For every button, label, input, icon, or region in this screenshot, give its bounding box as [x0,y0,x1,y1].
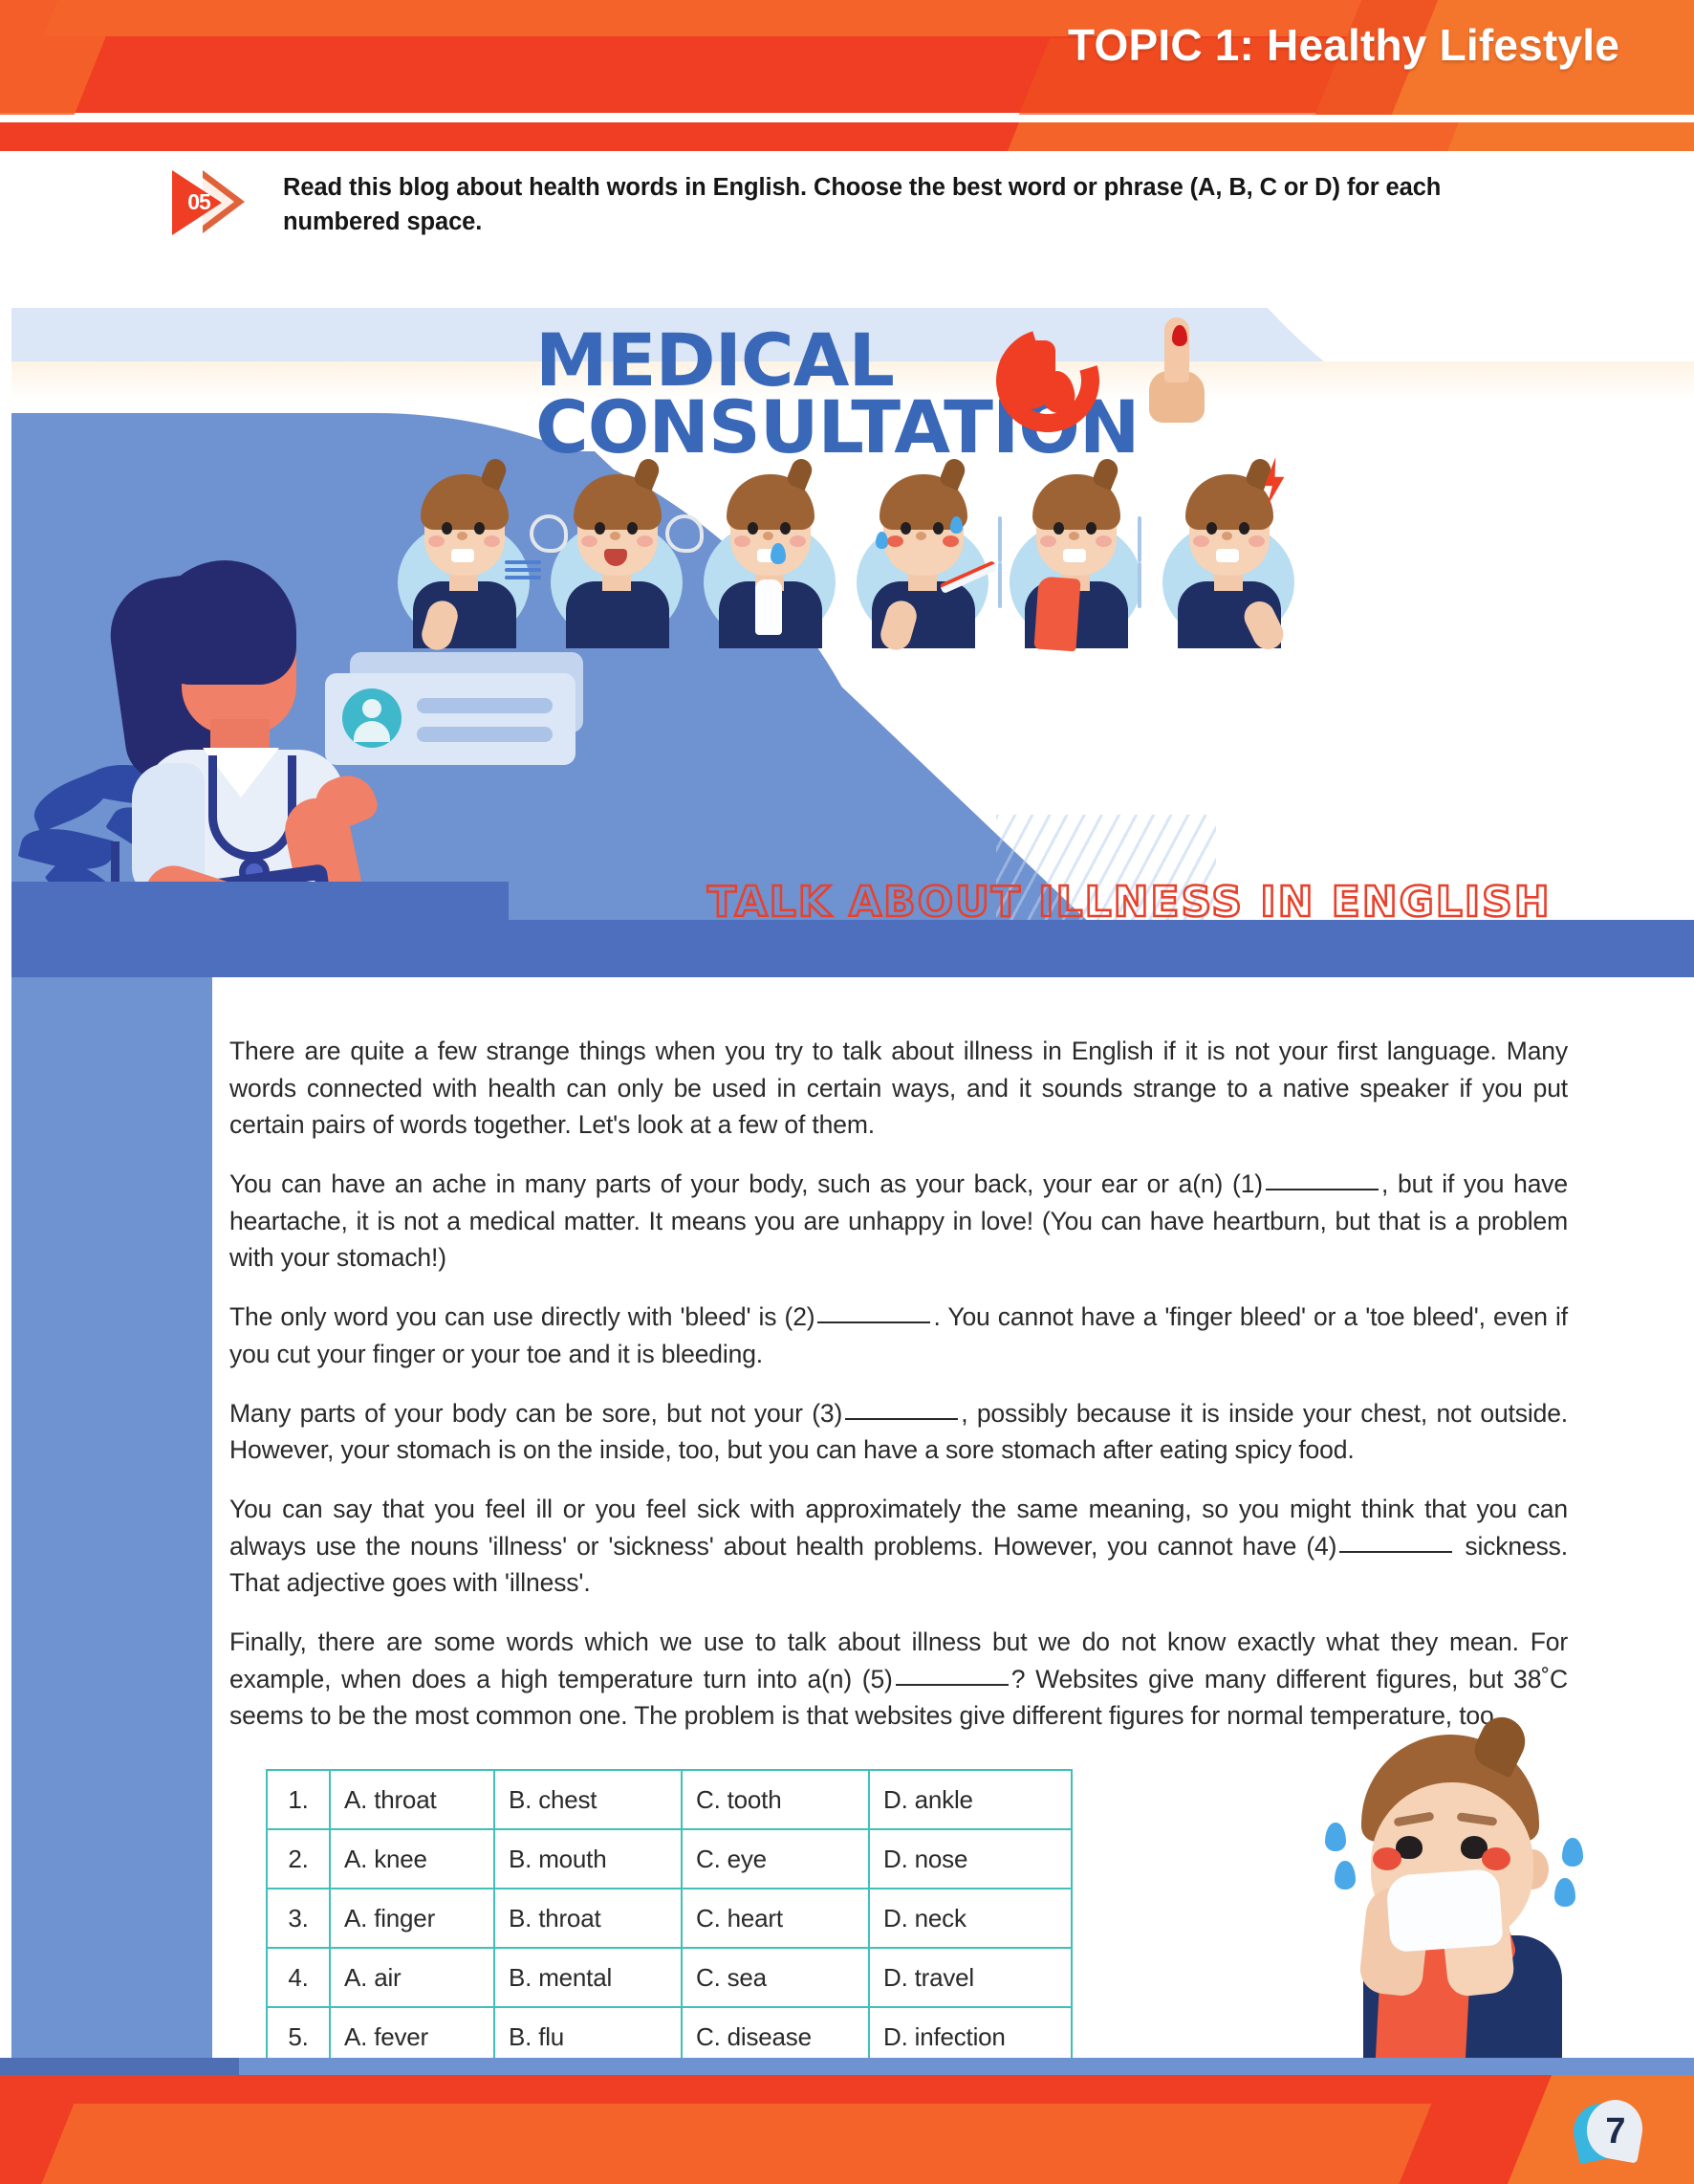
nose-drip-icon [771,543,786,564]
option-d[interactable]: D. ankle [869,1770,1072,1829]
sore-throat-wave-icon [505,560,541,585]
sweat-drop-icon [876,532,888,549]
option-c[interactable]: C. sea [682,1948,869,2007]
exercise-number-badge: 05 [170,168,262,237]
boy-coughing [545,461,688,643]
stethoscope-icon [208,755,296,861]
paragraph-4-part-a: Many parts of your body can be sore, but… [229,1399,842,1428]
option-b[interactable]: B. chest [494,1770,682,1829]
shiver-lines-icon [1138,516,1153,562]
tissue-icon [755,579,782,635]
id-card-line-2 [417,727,553,742]
cough-cloud-icon [530,514,568,553]
paragraph-5: You can say that you feel ill or you fee… [229,1491,1568,1602]
paragraph-6: Finally, there are some words which we u… [229,1624,1568,1735]
option-a[interactable]: A. air [330,1948,494,2007]
answer-blank-4[interactable] [1339,1551,1452,1553]
options-table: 1. A. throat B. chest C. tooth D. ankle … [266,1769,1073,2067]
option-b[interactable]: B. mental [494,1948,682,2007]
banner-bottom-blue [11,920,1694,977]
user-avatar-icon [342,688,402,748]
answer-blank-5[interactable] [896,1684,1009,1686]
row-number: 3. [267,1889,330,1948]
header-underbar-accent-2 [1447,122,1694,151]
answer-blank-1[interactable] [1266,1189,1379,1190]
boy-runny-nose [698,461,841,643]
option-b[interactable]: B. throat [494,1889,682,1948]
option-b[interactable]: B. mouth [494,1829,682,1889]
table-row: 1. A. throat B. chest C. tooth D. ankle [267,1770,1072,1829]
textbook-page: TOPIC 1: Healthy Lifestyle 05 Read this … [0,0,1694,2184]
page-number-badge: 7 [1574,2100,1644,2171]
banner-subtitle: TALK ABOUT ILLNESS IN ENGLISH [707,878,1552,927]
paragraph-2: You can have an ache in many parts of yo… [229,1166,1568,1277]
paragraph-1: There are quite a few strange things whe… [229,1033,1568,1144]
boy-fever-thermometer [851,461,994,643]
paragraph-2-part-a: You can have an ache in many parts of yo… [229,1169,1263,1198]
option-c[interactable]: C. heart [682,1889,869,1948]
patient-id-card [325,652,583,775]
header-divider [0,115,1694,122]
banner-illustration: MEDICAL CONSULTATION [11,308,1694,977]
header-underbar-accent [1008,122,1516,151]
paragraph-3-part-a: The only word you can use directly with … [229,1302,814,1331]
bleeding-finger-icon [1141,317,1212,430]
answer-blank-3[interactable] [845,1418,958,1420]
stomach-heartburn-icon [996,329,1099,432]
tissue-icon [1385,1868,1503,1953]
option-a[interactable]: A. throat [330,1770,494,1829]
exercise-instruction: 05 Read this blog about health words in … [170,168,1528,239]
boy-sneezing-illustration [1317,1727,1652,2071]
scarf-icon [1033,577,1080,652]
page-number: 7 [1593,2111,1639,2152]
footer-blue-band-dark [0,2058,239,2075]
shiver-lines-icon [998,516,1013,562]
footer-orange-accent [41,2104,1432,2184]
option-d[interactable]: D. travel [869,1948,1072,2007]
doctor-hair-top [153,560,296,685]
article-body: There are quite a few strange things whe… [229,1033,1568,1757]
paragraph-3: The only word you can use directly with … [229,1299,1568,1372]
page-title: TOPIC 1: Healthy Lifestyle [1068,19,1619,71]
row-number: 1. [267,1770,330,1829]
table-row: 4. A. air B. mental C. sea D. travel [267,1948,1072,2007]
option-c[interactable]: C. eye [682,1829,869,1889]
boy-sore-throat [392,461,535,643]
exercise-number: 05 [180,189,218,215]
paragraph-4: Many parts of your body can be sore, but… [229,1395,1568,1469]
table-row: 3. A. finger B. throat C. heart D. neck [267,1889,1072,1948]
id-card-line-1 [417,698,553,713]
answer-blank-2[interactable] [817,1321,930,1323]
instruction-text: Read this blog about health words in Eng… [283,168,1528,239]
option-d[interactable]: D. nose [869,1829,1072,1889]
table-row: 2. A. knee B. mouth C. eye D. nose [267,1829,1072,1889]
option-a[interactable]: A. knee [330,1829,494,1889]
boy-chills-scarf [1004,461,1147,643]
option-c[interactable]: C. tooth [682,1770,869,1829]
option-d[interactable]: D. neck [869,1889,1072,1948]
row-number: 2. [267,1829,330,1889]
page-footer [0,2058,1694,2184]
page-header: TOPIC 1: Healthy Lifestyle [0,0,1694,122]
option-a[interactable]: A. finger [330,1889,494,1948]
footer-blue-band [0,2058,1694,2075]
row-number: 4. [267,1948,330,2007]
id-card-front [325,673,576,765]
sweat-drop-icon [950,516,963,534]
boy-headache [1157,461,1300,643]
left-blue-strip [11,977,229,2058]
